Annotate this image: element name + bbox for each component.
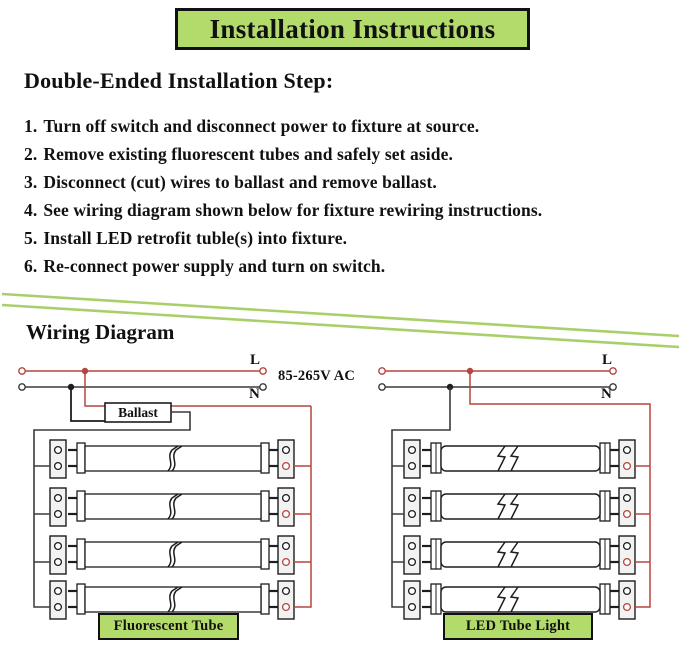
led-tube-light-caption: LED Tube Light [443, 613, 593, 640]
step-number: 3. [24, 172, 37, 193]
step-text: See wiring diagram shown below for fixtu… [43, 200, 542, 221]
step-text: Turn off switch and disconnect power to … [43, 116, 479, 137]
fluorescent-tube-row [34, 440, 311, 478]
fluorescent-tube-row [34, 536, 311, 574]
step-number: 5. [24, 228, 37, 249]
led-tube-row [392, 536, 650, 574]
step-text: Re-connect power supply and turn on swit… [43, 256, 385, 277]
step-text: Install LED retrofit tuble(s) into fixtu… [43, 228, 347, 249]
step-number: 1. [24, 116, 37, 137]
wiring-diagram-heading: Wiring Diagram [26, 320, 174, 345]
steps-list: 1. Turn off switch and disconnect power … [24, 116, 664, 284]
installation-instructions-page: Installation Instructions Double-Ended I… [0, 0, 679, 646]
list-item: 6. Re-connect power supply and turn on s… [24, 256, 664, 284]
ballast-label: Ballast [118, 405, 158, 420]
steps-heading: Double-Ended Installation Step: [24, 68, 333, 94]
step-number: 6. [24, 256, 37, 277]
list-item: 4. See wiring diagram shown below for fi… [24, 200, 664, 228]
led-tube-row [392, 440, 650, 478]
led-tube-row [392, 488, 650, 526]
right-neutral-terminal-label: N [601, 386, 612, 403]
page-title: Installation Instructions [210, 14, 496, 45]
left-line-terminal-label: L [250, 352, 260, 369]
step-text: Remove existing fluorescent tubes and sa… [43, 144, 453, 165]
list-item: 2. Remove existing fluorescent tubes and… [24, 144, 664, 172]
step-number: 4. [24, 200, 37, 221]
voltage-label: 85-265V AC [278, 368, 355, 385]
left-neutral-terminal-label: N [249, 386, 260, 403]
page-title-banner: Installation Instructions [175, 8, 530, 50]
fluorescent-tube-row [34, 488, 311, 526]
fluorescent-tube-caption: Fluorescent Tube [98, 613, 239, 640]
list-item: 3. Disconnect (cut) wires to ballast and… [24, 172, 664, 200]
list-item: 5. Install LED retrofit tuble(s) into fi… [24, 228, 664, 256]
right-line-terminal-label: L [602, 352, 612, 369]
list-item: 1. Turn off switch and disconnect power … [24, 116, 664, 144]
step-text: Disconnect (cut) wires to ballast and re… [43, 172, 437, 193]
step-number: 2. [24, 144, 37, 165]
